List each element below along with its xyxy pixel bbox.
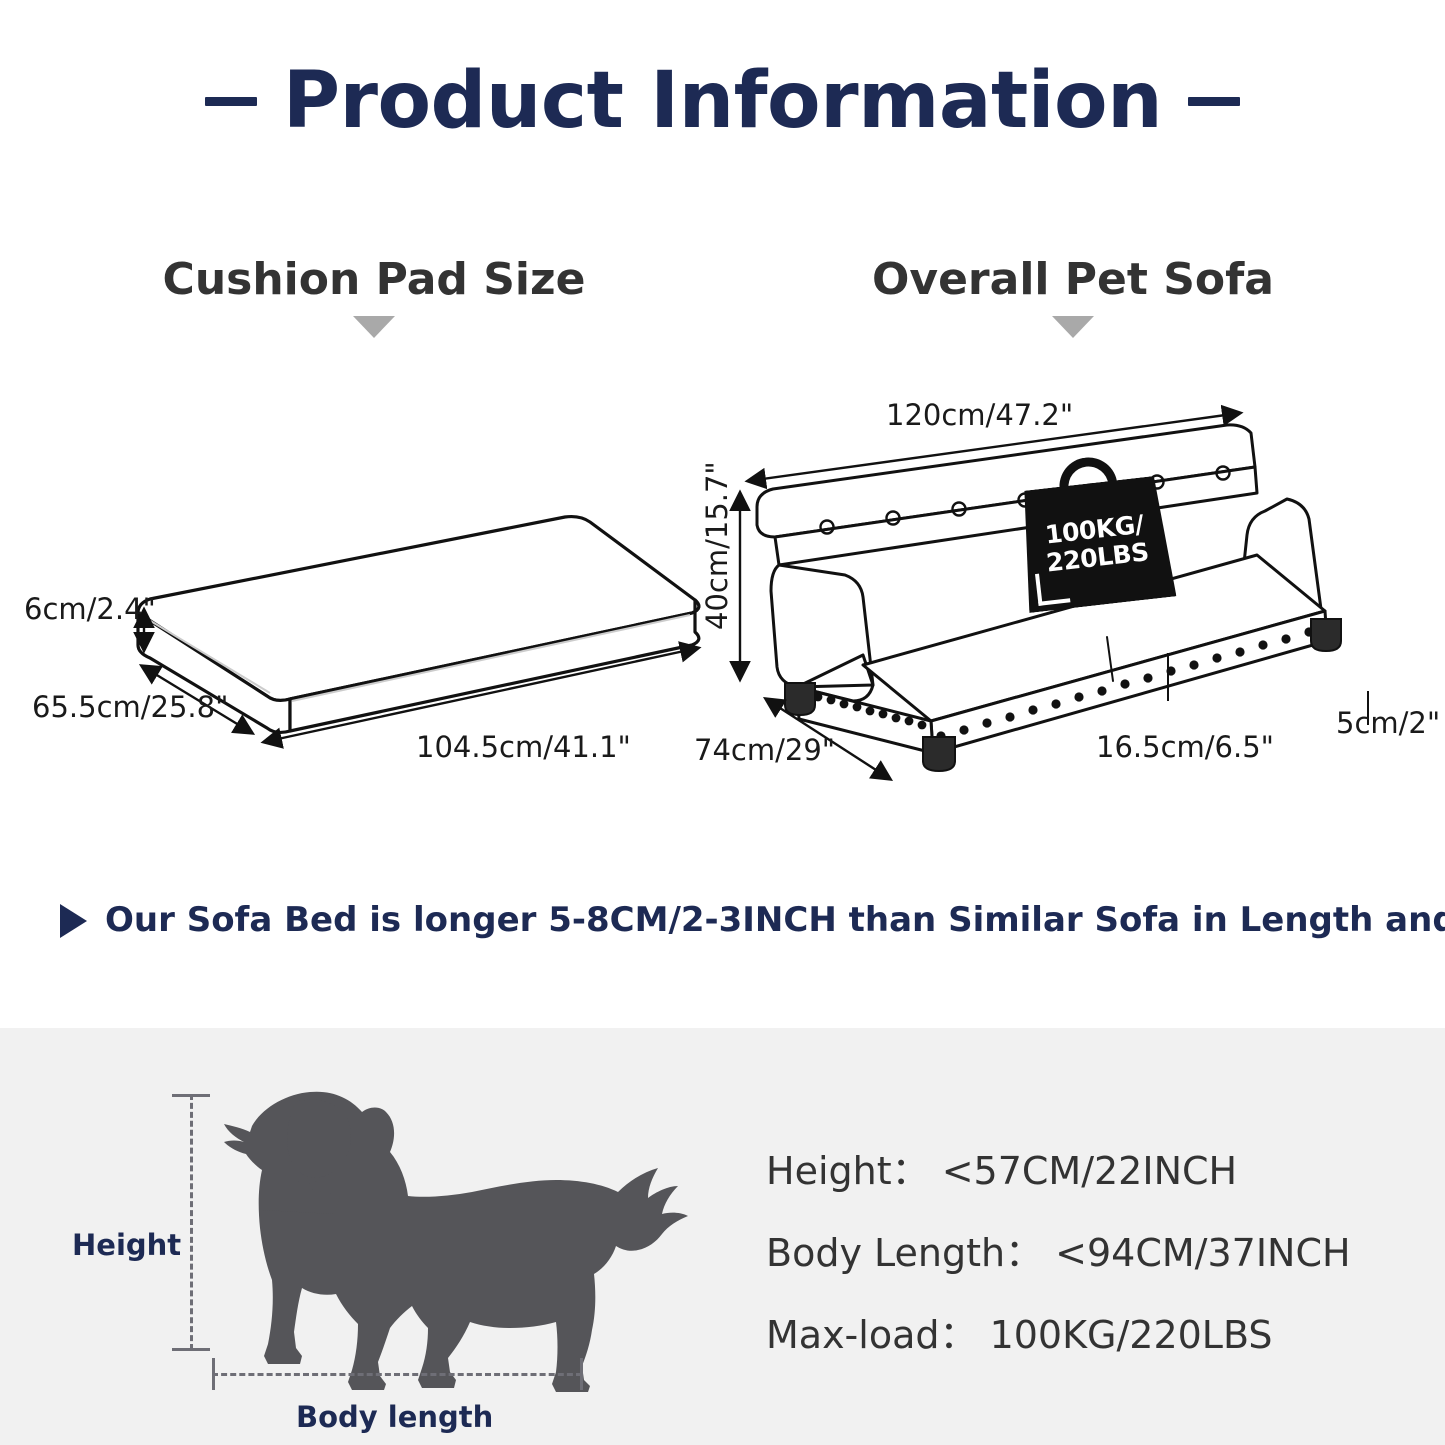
bag-corner-mark xyxy=(1035,570,1070,605)
spec-body-length: Body Length： <94CM/37INCH xyxy=(766,1234,1406,1272)
body-length-guide-line xyxy=(212,1373,582,1376)
height-guide-cap-bottom xyxy=(172,1348,210,1351)
body-length-guide-label: Body length xyxy=(296,1400,493,1434)
body-length-cap-left xyxy=(212,1358,215,1390)
sofa-dim-depth: 74cm/29" xyxy=(694,733,835,767)
sofa-dim-height: 40cm/15.7" xyxy=(700,461,734,630)
triangle-down-icon xyxy=(353,316,395,338)
section-label-cushion: Cushion Pad Size xyxy=(118,256,630,304)
cushion-dim-length: 104.5cm/41.1" xyxy=(416,730,631,764)
bag-body: 100KG/ 220LBS xyxy=(1016,475,1177,613)
cushion-dim-width: 65.5cm/25.8" xyxy=(32,690,228,724)
page-title-row: Product Information xyxy=(0,62,1445,140)
pet-spec-list: Height： <57CM/22INCH Body Length： <94CM/… xyxy=(766,1152,1406,1398)
sofa-dim-foot-height: 5cm/2" xyxy=(1336,706,1440,740)
height-guide-cap-top xyxy=(172,1094,210,1097)
page-title: Product Information xyxy=(283,62,1162,140)
weight-bag-icon: 100KG/ 220LBS xyxy=(1016,475,1177,613)
sofa-dim-seat-height: 16.5cm/6.5" xyxy=(1096,730,1274,764)
section-label-sofa: Overall Pet Sofa xyxy=(838,256,1308,304)
product-information-infographic: Product Information Cushion Pad Size Ove… xyxy=(0,0,1445,1445)
height-guide-line xyxy=(190,1094,193,1350)
cushion-dim-thickness: 6cm/2.4" xyxy=(24,592,156,626)
section-header-sofa: Overall Pet Sofa xyxy=(838,256,1308,338)
spec-max-load: Max-load： 100KG/220LBS xyxy=(766,1316,1406,1354)
triangle-down-icon xyxy=(1052,316,1094,338)
title-dash-left xyxy=(205,97,257,106)
pet-size-guide-panel: Height Body length Height： <57CM/22INCH … xyxy=(0,1028,1445,1445)
title-dash-right xyxy=(1188,97,1240,106)
body-length-cap-right xyxy=(580,1358,583,1390)
triangle-right-icon xyxy=(60,904,87,938)
banner-text: Our Sofa Bed is longer 5-8CM/2-3INCH tha… xyxy=(105,902,1445,939)
spec-height: Height： <57CM/22INCH xyxy=(766,1152,1406,1190)
height-guide-label: Height xyxy=(72,1228,181,1262)
highlight-banner: Our Sofa Bed is longer 5-8CM/2-3INCH tha… xyxy=(60,902,1440,939)
section-header-cushion: Cushion Pad Size xyxy=(118,256,630,338)
sofa-dim-length: 120cm/47.2" xyxy=(886,398,1073,432)
dog-silhouette-icon xyxy=(200,1068,690,1408)
